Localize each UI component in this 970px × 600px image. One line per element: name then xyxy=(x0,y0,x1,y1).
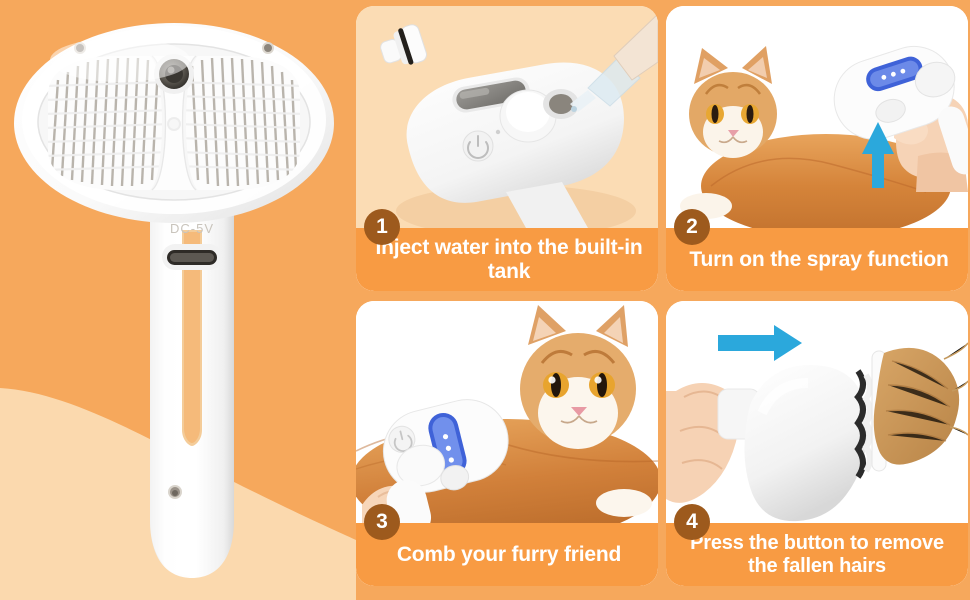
step-panel-4[interactable]: 4 Press the button to remove the fallen … xyxy=(666,301,968,586)
step-caption-3: Comb your furry friend xyxy=(356,523,658,586)
indicator-dot xyxy=(496,130,500,134)
step-panel-3[interactable]: 3 Comb your furry friend xyxy=(356,301,658,586)
step-1-photo xyxy=(356,6,658,228)
product-illustration: DC-5V xyxy=(0,0,348,600)
step-3-photo xyxy=(356,301,658,523)
step-2-photo xyxy=(666,6,968,228)
step-caption-1: Inject water into the built-in tank xyxy=(356,228,658,291)
step-4-photo xyxy=(666,301,968,523)
power-button xyxy=(463,131,493,161)
product-hero: DC-5V xyxy=(0,0,348,600)
step-badge-3: 3 xyxy=(364,504,400,540)
step-caption-2: Turn on the spray function xyxy=(666,228,968,291)
head-screw-right xyxy=(262,42,274,54)
cat-paw xyxy=(596,489,652,517)
step-badge-4: 4 xyxy=(674,504,710,540)
step-badge-1: 1 xyxy=(364,209,400,245)
infographic-stage: DC-5V xyxy=(0,0,970,600)
port-label: DC-5V xyxy=(170,221,214,236)
step-badge-2: 2 xyxy=(674,209,710,245)
step-caption-4: Press the button to remove the fallen ha… xyxy=(666,523,968,586)
step-panel-2[interactable]: 2 Turn on the spray function xyxy=(666,6,968,291)
step-panel-1[interactable]: 1 Inject water into the built-in tank xyxy=(356,6,658,291)
usb-c-port-group: DC-5V xyxy=(162,221,222,270)
steps-grid: 1 Inject water into the built-in tank xyxy=(356,6,966,594)
